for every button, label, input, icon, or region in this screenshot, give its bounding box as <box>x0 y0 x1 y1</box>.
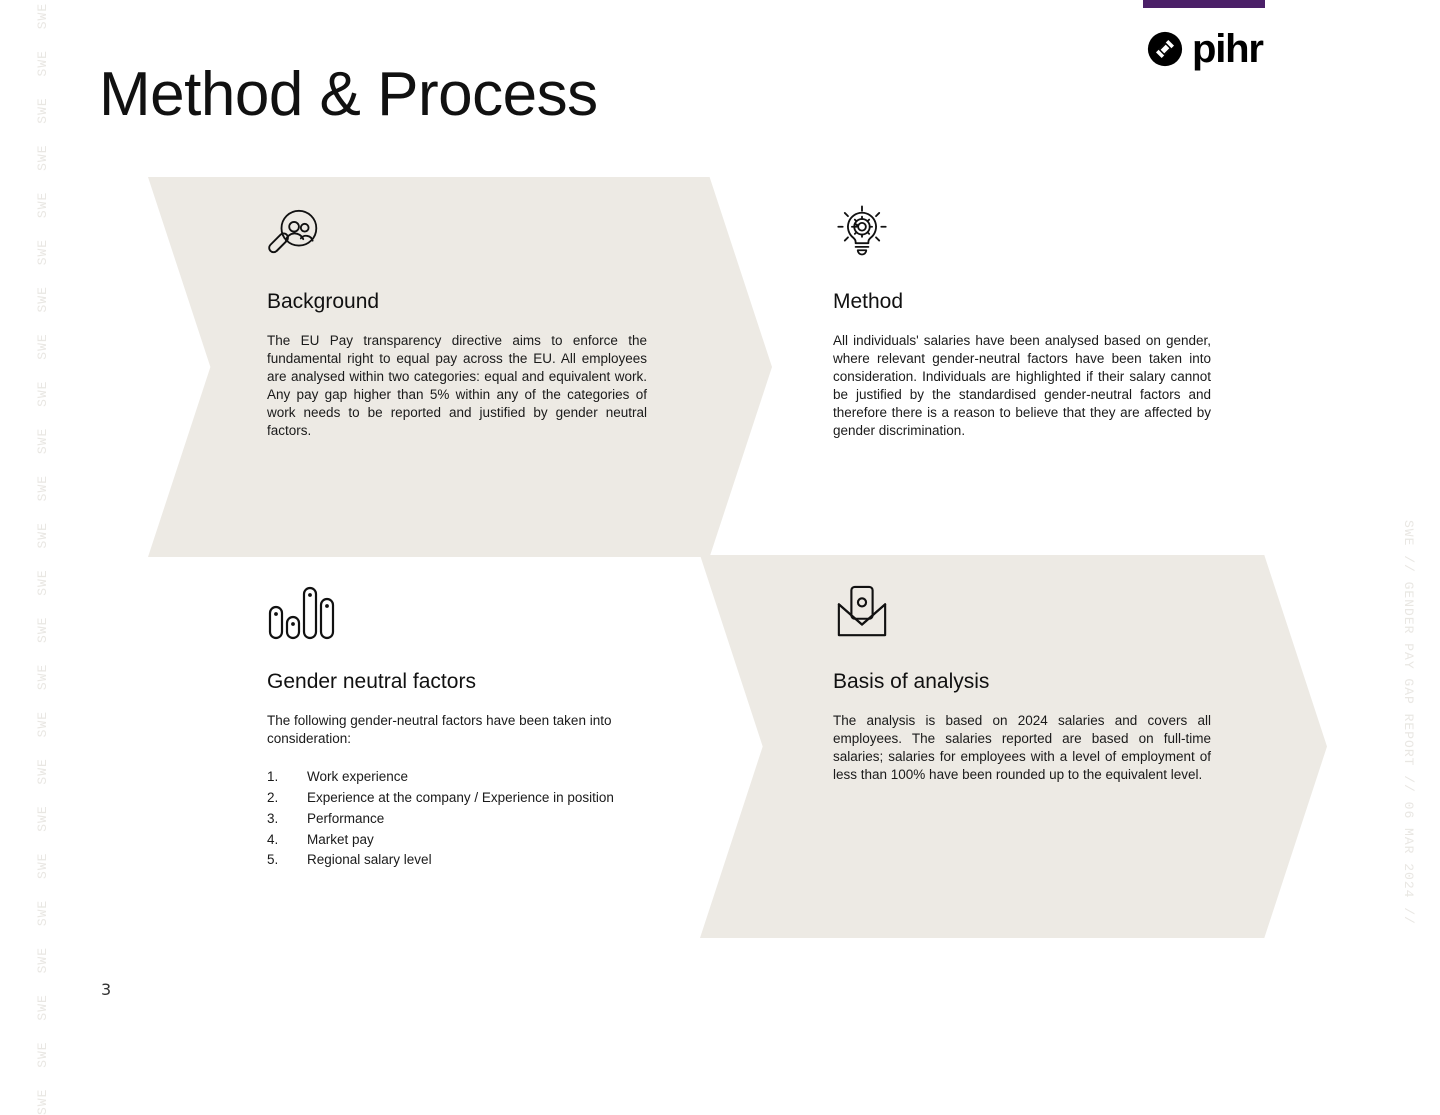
card-title-background: Background <box>267 289 647 314</box>
top-accent-bar <box>1143 0 1265 8</box>
list-item: 1. Work experience <box>267 768 662 786</box>
list-item-label: Performance <box>307 810 384 828</box>
list-item: 3. Performance <box>267 810 662 828</box>
card-body-factors: The following gender-neutral factors hav… <box>267 712 662 748</box>
page-title: Method & Process <box>99 62 598 127</box>
pihr-circle-slash-icon <box>1146 30 1184 68</box>
list-item: 2. Experience at the company / Experienc… <box>267 789 662 807</box>
card-gender-neutral-factors: Gender neutral factors The following gen… <box>267 585 662 872</box>
lightbulb-gear-icon <box>833 205 1211 263</box>
list-item-label: Regional salary level <box>307 851 432 869</box>
list-item-number: 4. <box>267 831 307 849</box>
magnifier-people-icon <box>267 205 647 263</box>
list-item-label: Experience at the company / Experience i… <box>307 789 614 807</box>
card-body-method: All individuals' salaries have been anal… <box>833 332 1211 440</box>
brand-logo: pihr <box>1146 30 1263 68</box>
page-number: 3 <box>101 980 111 999</box>
list-item-number: 2. <box>267 789 307 807</box>
brand-wordmark: pihr <box>1192 30 1263 68</box>
list-item: 5. Regional salary level <box>267 851 662 869</box>
envelope-document-icon <box>833 585 1211 643</box>
list-item-number: 1. <box>267 768 307 786</box>
card-background: Background The EU Pay transparency direc… <box>267 205 647 440</box>
factors-list: 1. Work experience 2. Experience at the … <box>267 768 662 869</box>
card-method: Method All individuals' salaries have be… <box>833 205 1211 440</box>
left-vertical-rail-text: SWE SWE SWE SWE SWE SWE SWE SWE SWE SWE … <box>25 0 49 1024</box>
card-title-factors: Gender neutral factors <box>267 669 662 694</box>
right-vertical-rail-text: SWE // GENDER PAY GAP REPORT // 06 MAR 2… <box>1402 0 1426 1024</box>
card-title-basis: Basis of analysis <box>833 669 1211 694</box>
list-item-number: 5. <box>267 851 307 869</box>
card-body-basis: The analysis is based on 2024 salaries a… <box>833 712 1211 784</box>
list-item-label: Market pay <box>307 831 374 849</box>
list-item: 4. Market pay <box>267 831 662 849</box>
bar-chart-icon <box>267 585 662 643</box>
card-title-method: Method <box>833 289 1211 314</box>
list-item-label: Work experience <box>307 768 408 786</box>
card-basis-of-analysis: Basis of analysis The analysis is based … <box>833 585 1211 784</box>
card-body-background: The EU Pay transparency directive aims t… <box>267 332 647 440</box>
list-item-number: 3. <box>267 810 307 828</box>
